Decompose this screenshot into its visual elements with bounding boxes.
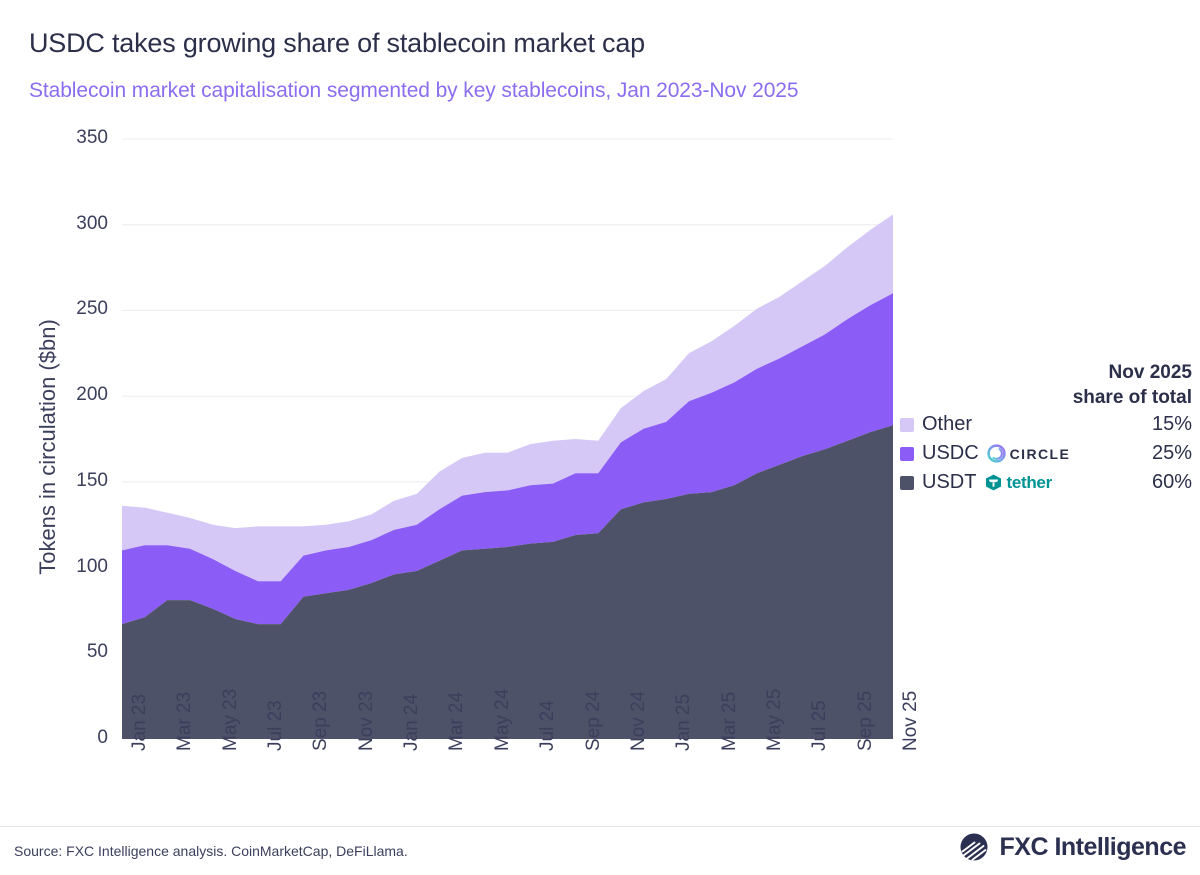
x-tick-label: May 24 <box>492 689 514 751</box>
circle-logo: CIRCLE <box>987 444 1071 463</box>
x-tick-label: Sep 23 <box>310 691 332 751</box>
x-tick-label: Nov 23 <box>356 691 378 751</box>
y-tick-label: 250 <box>38 298 108 320</box>
legend-label-usdt: USDT <box>922 471 976 494</box>
legend-swatch-usdt <box>900 476 914 490</box>
tether-hexagon-icon <box>984 473 1003 492</box>
x-tick-label: May 25 <box>764 689 786 751</box>
y-tick-label: 100 <box>38 556 108 578</box>
legend-pct-usdc: 25% <box>1152 442 1200 465</box>
x-tick-label: Sep 25 <box>855 691 877 751</box>
legend-pct-usdt: 60% <box>1152 471 1200 494</box>
area-series-group <box>122 214 893 739</box>
legend-swatch-usdc <box>900 447 914 461</box>
x-tick-label: Jul 23 <box>265 700 287 751</box>
x-tick-label: Jan 23 <box>129 694 151 751</box>
legend: Nov 2025 share of total Other 15% USDC <box>900 360 1200 497</box>
x-tick-label: May 23 <box>220 689 242 751</box>
legend-header: Nov 2025 share of total <box>900 360 1200 410</box>
tether-logo: tether <box>984 473 1051 493</box>
legend-label-other: Other <box>922 413 972 436</box>
footer-divider <box>0 826 1200 827</box>
x-tick-label: Nov 25 <box>900 691 922 751</box>
y-tick-label: 50 <box>38 641 108 663</box>
legend-label-usdc: USDC <box>922 442 979 465</box>
y-tick-label: 0 <box>38 727 108 749</box>
x-tick-label: Mar 25 <box>719 692 741 751</box>
x-tick-label: Nov 24 <box>628 691 650 751</box>
legend-item-usdt[interactable]: USDT tether 60% <box>900 468 1200 497</box>
legend-item-usdc[interactable]: USDC CIRCLE 25% <box>900 439 1200 468</box>
x-tick-label: Mar 23 <box>174 692 196 751</box>
fxc-globe-icon <box>959 832 993 862</box>
x-tick-label: Sep 24 <box>583 691 605 751</box>
legend-swatch-other <box>900 418 914 432</box>
x-tick-label: Jan 24 <box>401 694 423 751</box>
x-tick-label: Jul 24 <box>537 700 559 751</box>
legend-item-other[interactable]: Other 15% <box>900 410 1200 439</box>
x-tick-label: Jan 25 <box>673 694 695 751</box>
y-tick-label: 300 <box>38 213 108 235</box>
y-tick-label: 150 <box>38 470 108 492</box>
legend-header-line2: share of total <box>900 385 1192 410</box>
x-tick-label: Jul 25 <box>809 700 831 751</box>
legend-pct-other: 15% <box>1152 413 1200 436</box>
circle-brand-text: CIRCLE <box>1010 446 1071 462</box>
source-note: Source: FXC Intelligence analysis. CoinM… <box>14 843 408 859</box>
x-tick-label: Mar 24 <box>446 692 468 751</box>
fxc-logo: FXC Intelligence <box>959 832 1186 862</box>
legend-header-line1: Nov 2025 <box>900 360 1192 385</box>
circle-ring-icon <box>987 444 1006 463</box>
tether-brand-text: tether <box>1006 473 1051 493</box>
y-tick-label: 350 <box>38 127 108 149</box>
fxc-logo-text: FXC Intelligence <box>1000 833 1186 862</box>
y-tick-label: 200 <box>38 384 108 406</box>
